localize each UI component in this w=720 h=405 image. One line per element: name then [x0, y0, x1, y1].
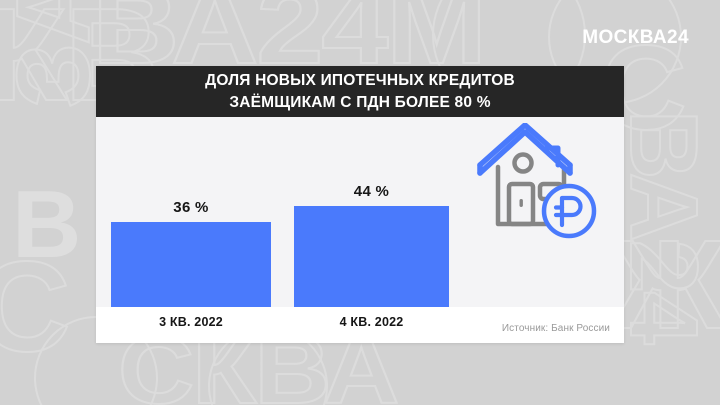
- chart-title-bar: ДОЛЯ НОВЫХ ИПОТЕЧНЫХ КРЕДИТОВ ЗАЁМЩИКАМ …: [96, 66, 624, 117]
- category-label-q4: 4 КВ. 2022: [294, 315, 449, 329]
- bar-q4-2022: [294, 206, 449, 307]
- bar-value-label-q4: 44 %: [294, 183, 449, 200]
- chart-title-line-2: ЗАЁМЩИКАМ С ПДН БОЛЕЕ 80 %: [229, 92, 490, 114]
- bar-chart-plot-area: 36 % 44 %: [96, 117, 624, 343]
- house-with-ruble-coin-icon: [476, 123, 606, 248]
- category-label-q3: 3 КВ. 2022: [111, 315, 271, 329]
- bar-value-label-q3: 36 %: [111, 199, 271, 216]
- watermark-text-right-2: ВА24: [625, 110, 700, 343]
- watermark-text-right-3: Ж: [612, 236, 720, 334]
- source-attribution: Источник: Банк России: [502, 323, 610, 334]
- channel-logo: МОСКВА24: [582, 27, 689, 49]
- watermark-text-left-2: ЗА: [14, 0, 95, 108]
- watermark-text-left-4: С: [0, 258, 68, 358]
- chart-card: ДОЛЯ НОВЫХ ИПОТЕЧНЫХ КРЕДИТОВ ЗАЁМЩИКАМ …: [96, 66, 624, 343]
- watermark-text-bottom: СКВА: [118, 334, 397, 405]
- bar-q3-2022: [111, 222, 271, 307]
- chart-title-line-1: ДОЛЯ НОВЫХ ИПОТЕЧНЫХ КРЕДИТОВ: [205, 70, 515, 92]
- watermark-text-left-3: В: [12, 188, 79, 263]
- watermark-text-top: ВА24М: [92, 0, 485, 68]
- broadcast-graphic-screen: ВА24М КВ ЗА В С С ВА24 Ж СКВА МОСКВА24 Д…: [0, 0, 720, 405]
